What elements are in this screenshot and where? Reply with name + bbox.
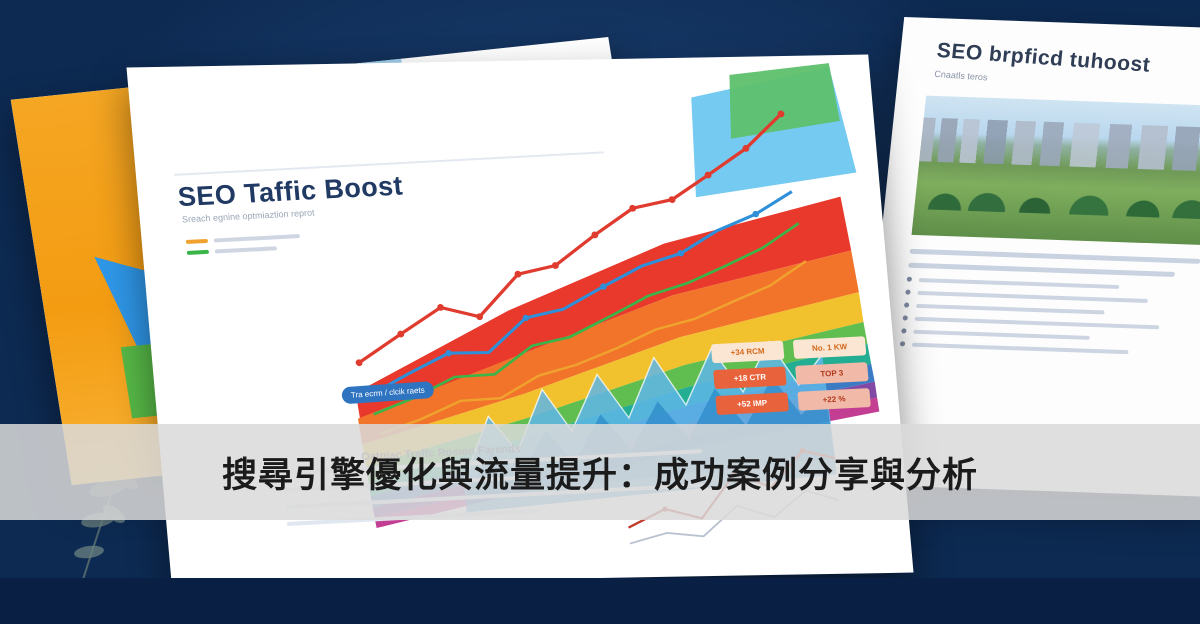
text-line bbox=[908, 263, 1175, 277]
text-line bbox=[915, 316, 1160, 329]
caption-banner: 搜尋引擎優化與流量提升：成功案例分享與分析 bbox=[0, 424, 1200, 520]
bullet-icon bbox=[900, 341, 906, 346]
secondary-report-header: SEO brpficd tuhoost Cnaatls teros bbox=[933, 44, 1200, 94]
metric-badge-group: +34 RCM +18 CTR +52 IMP No. 1 KW TOP 3 +… bbox=[711, 336, 871, 415]
text-line bbox=[919, 278, 1120, 289]
bullet-icon bbox=[905, 290, 911, 295]
list-item bbox=[907, 277, 1200, 293]
bullet-icon bbox=[907, 277, 913, 282]
text-line bbox=[910, 249, 1200, 264]
tree-line-shape bbox=[914, 175, 1200, 219]
bottom-bar bbox=[0, 578, 1200, 624]
text-line bbox=[916, 303, 1105, 314]
metric-badge: +52 IMP bbox=[715, 392, 789, 415]
secondary-report-body bbox=[899, 249, 1200, 365]
list-item bbox=[905, 290, 1200, 306]
city-skyline-shape bbox=[919, 117, 1200, 171]
text-line bbox=[913, 329, 1090, 339]
metric-badge: +22 % bbox=[797, 388, 871, 411]
metric-badge: No. 1 KW bbox=[793, 336, 867, 359]
text-line bbox=[912, 342, 1129, 354]
badge-column-left: +34 RCM +18 CTR +52 IMP bbox=[711, 341, 789, 415]
metric-badge: TOP 3 bbox=[795, 362, 869, 385]
badge-column-middle: No. 1 KW TOP 3 +22 % bbox=[793, 336, 871, 410]
list-item bbox=[900, 341, 1200, 357]
bullet-icon bbox=[901, 328, 907, 333]
list-item bbox=[903, 315, 1200, 331]
metric-badge: +18 CTR bbox=[713, 366, 787, 389]
metric-badge: +34 RCM bbox=[711, 341, 785, 364]
image-canvas: SEO brpficd tuhoost Cnaatls teros SEO Ta… bbox=[0, 0, 1200, 624]
text-line bbox=[917, 290, 1148, 302]
banner-title: 搜尋引擎優化與流量提升：成功案例分享與分析 bbox=[222, 447, 978, 498]
list-item bbox=[904, 302, 1200, 318]
secondary-report-photo bbox=[912, 96, 1200, 246]
bullet-icon bbox=[903, 315, 909, 320]
bullet-icon bbox=[904, 302, 910, 307]
list-item bbox=[901, 328, 1200, 344]
